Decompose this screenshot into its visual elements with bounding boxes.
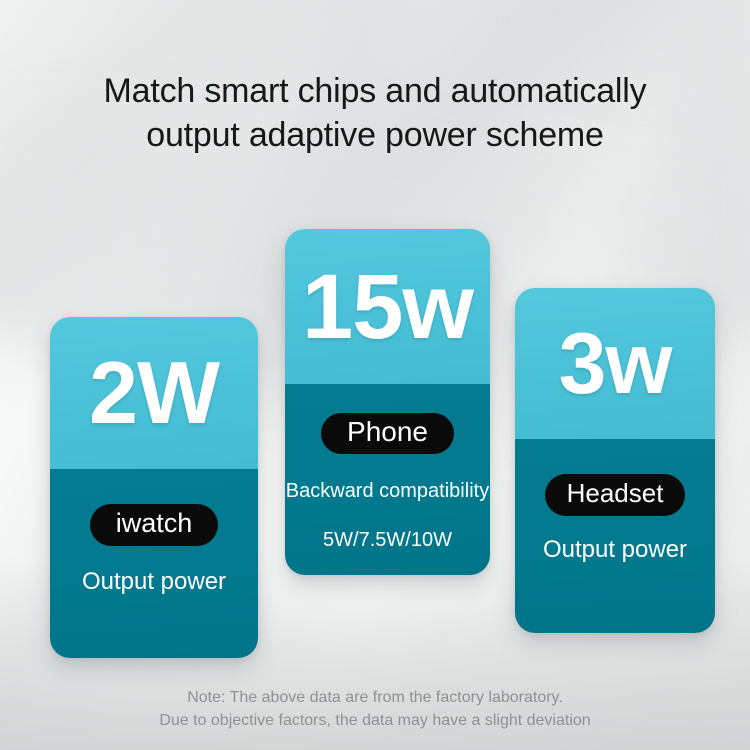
card-top-section-iwatch: 2W	[50, 317, 258, 469]
power-card-phone: 15w Phone Backward compatibility 5W/7.5W…	[285, 229, 490, 575]
card-caption-iwatch: Output power	[82, 568, 226, 596]
wattage-value-phone: 15w	[302, 261, 473, 353]
disclaimer-note: Note: The above data are from the factor…	[0, 686, 750, 732]
device-badge-phone: Phone	[321, 413, 454, 454]
device-badge-headset: Headset	[545, 474, 686, 516]
footnote-line-1: Note: The above data are from the factor…	[0, 686, 750, 709]
card-caption-phone: Backward compatibility	[286, 479, 489, 503]
wattage-value-iwatch: 2W	[89, 349, 219, 437]
footnote-line-2: Due to objective factors, the data may h…	[0, 709, 750, 732]
card-bottom-section-phone: Phone Backward compatibility 5W/7.5W/10W	[285, 384, 490, 575]
headline-line-2: output adaptive power scheme	[0, 114, 750, 158]
power-card-iwatch: 2W iwatch Output power	[50, 317, 258, 658]
card-top-section-phone: 15w	[285, 229, 490, 384]
card-bottom-section-headset: Headset Output power	[515, 439, 715, 633]
headline-line-1: Match smart chips and automatically	[0, 70, 750, 114]
card-caption-secondary-phone: 5W/7.5W/10W	[323, 528, 452, 552]
poster-canvas: Match smart chips and automatically outp…	[0, 0, 750, 750]
card-bottom-section-iwatch: iwatch Output power	[50, 469, 258, 658]
card-caption-headset: Output power	[543, 536, 687, 564]
page-title: Match smart chips and automatically outp…	[0, 70, 750, 157]
wattage-value-headset: 3w	[559, 321, 672, 407]
device-badge-iwatch: iwatch	[90, 504, 219, 546]
card-top-section-headset: 3w	[515, 288, 715, 439]
power-card-headset: 3w Headset Output power	[515, 288, 715, 633]
